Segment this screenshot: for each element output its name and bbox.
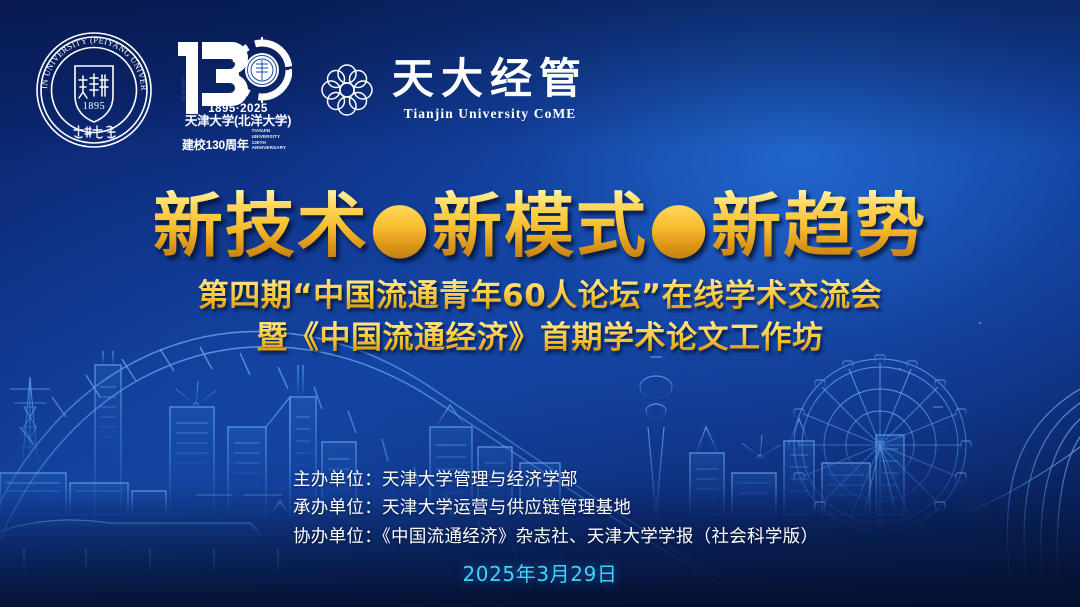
title-zone: 新技术●新模式●新趋势 第四期“中国流通青年60人论坛”在线学术交流会 暨《中国… bbox=[0, 190, 1080, 358]
logo-bar: TIANJIN UNIVERSITY (PEIYANG UNIVERSITY) … bbox=[34, 26, 588, 154]
organizer-line-undertaker: 承办单位：天津大学运营与供应链管理基地 bbox=[293, 494, 818, 522]
svg-text:TIANJIN UNIVERSITY (PEIYANG UN: TIANJIN UNIVERSITY (PEIYANG UNIVERSITY) bbox=[34, 30, 148, 91]
subtitle-line-2: 暨《中国流通经济》首期学术论文工作坊 bbox=[257, 319, 824, 358]
conference-poster: TIANJIN UNIVERSITY (PEIYANG UNIVERSITY) … bbox=[0, 0, 1080, 607]
event-date: 2025年3月29日 bbox=[0, 558, 1080, 587]
svg-text:实事求是: 实事求是 bbox=[180, 77, 186, 102]
anniversary-130-logo: 实事求是 1895·2 bbox=[170, 26, 292, 154]
organizer-line-coorganizer: 协办单位：《中国流通经济》杂志社、天津大学学报（社会科学版） bbox=[293, 523, 818, 551]
come-logo-en: Tianjin University CoME bbox=[404, 106, 577, 122]
anniversary-years: 1895·2025 bbox=[182, 103, 294, 115]
anniversary-text-block: 1895·2025 天津大学(北洋大学) 建校130周年 TIANJIN UNI… bbox=[182, 103, 294, 152]
come-flower-icon bbox=[316, 59, 378, 121]
anniversary-en-block: TIANJIN UNIVERSITY 130TH ANNIVERSARY bbox=[252, 128, 294, 152]
organizer-block: 主办单位：天津大学管理与经济学部 承办单位：天津大学运营与供应链管理基地 协办单… bbox=[293, 466, 818, 551]
svg-text:1895: 1895 bbox=[83, 101, 105, 112]
tianjin-university-seal: TIANJIN UNIVERSITY (PEIYANG UNIVERSITY) … bbox=[34, 30, 154, 150]
main-title: 新技术●新模式●新趋势 bbox=[153, 190, 927, 263]
anniversary-cn-line2: 建校130周年 bbox=[182, 139, 249, 152]
organizer-line-host: 主办单位：天津大学管理与经济学部 bbox=[293, 466, 818, 494]
subtitle-line-1: 第四期“中国流通青年60人论坛”在线学术交流会 bbox=[198, 277, 882, 316]
anniversary-en-line1: TIANJIN UNIVERSITY bbox=[252, 128, 281, 139]
come-logo-cn: 天大经管 bbox=[392, 59, 588, 101]
come-logo: 天大经管 Tianjin University CoME bbox=[308, 59, 588, 122]
anniversary-cn-line1: 天津大学(北洋大学) bbox=[182, 115, 294, 128]
anniversary-en-line2: 130TH ANNIVERSARY bbox=[252, 140, 286, 151]
